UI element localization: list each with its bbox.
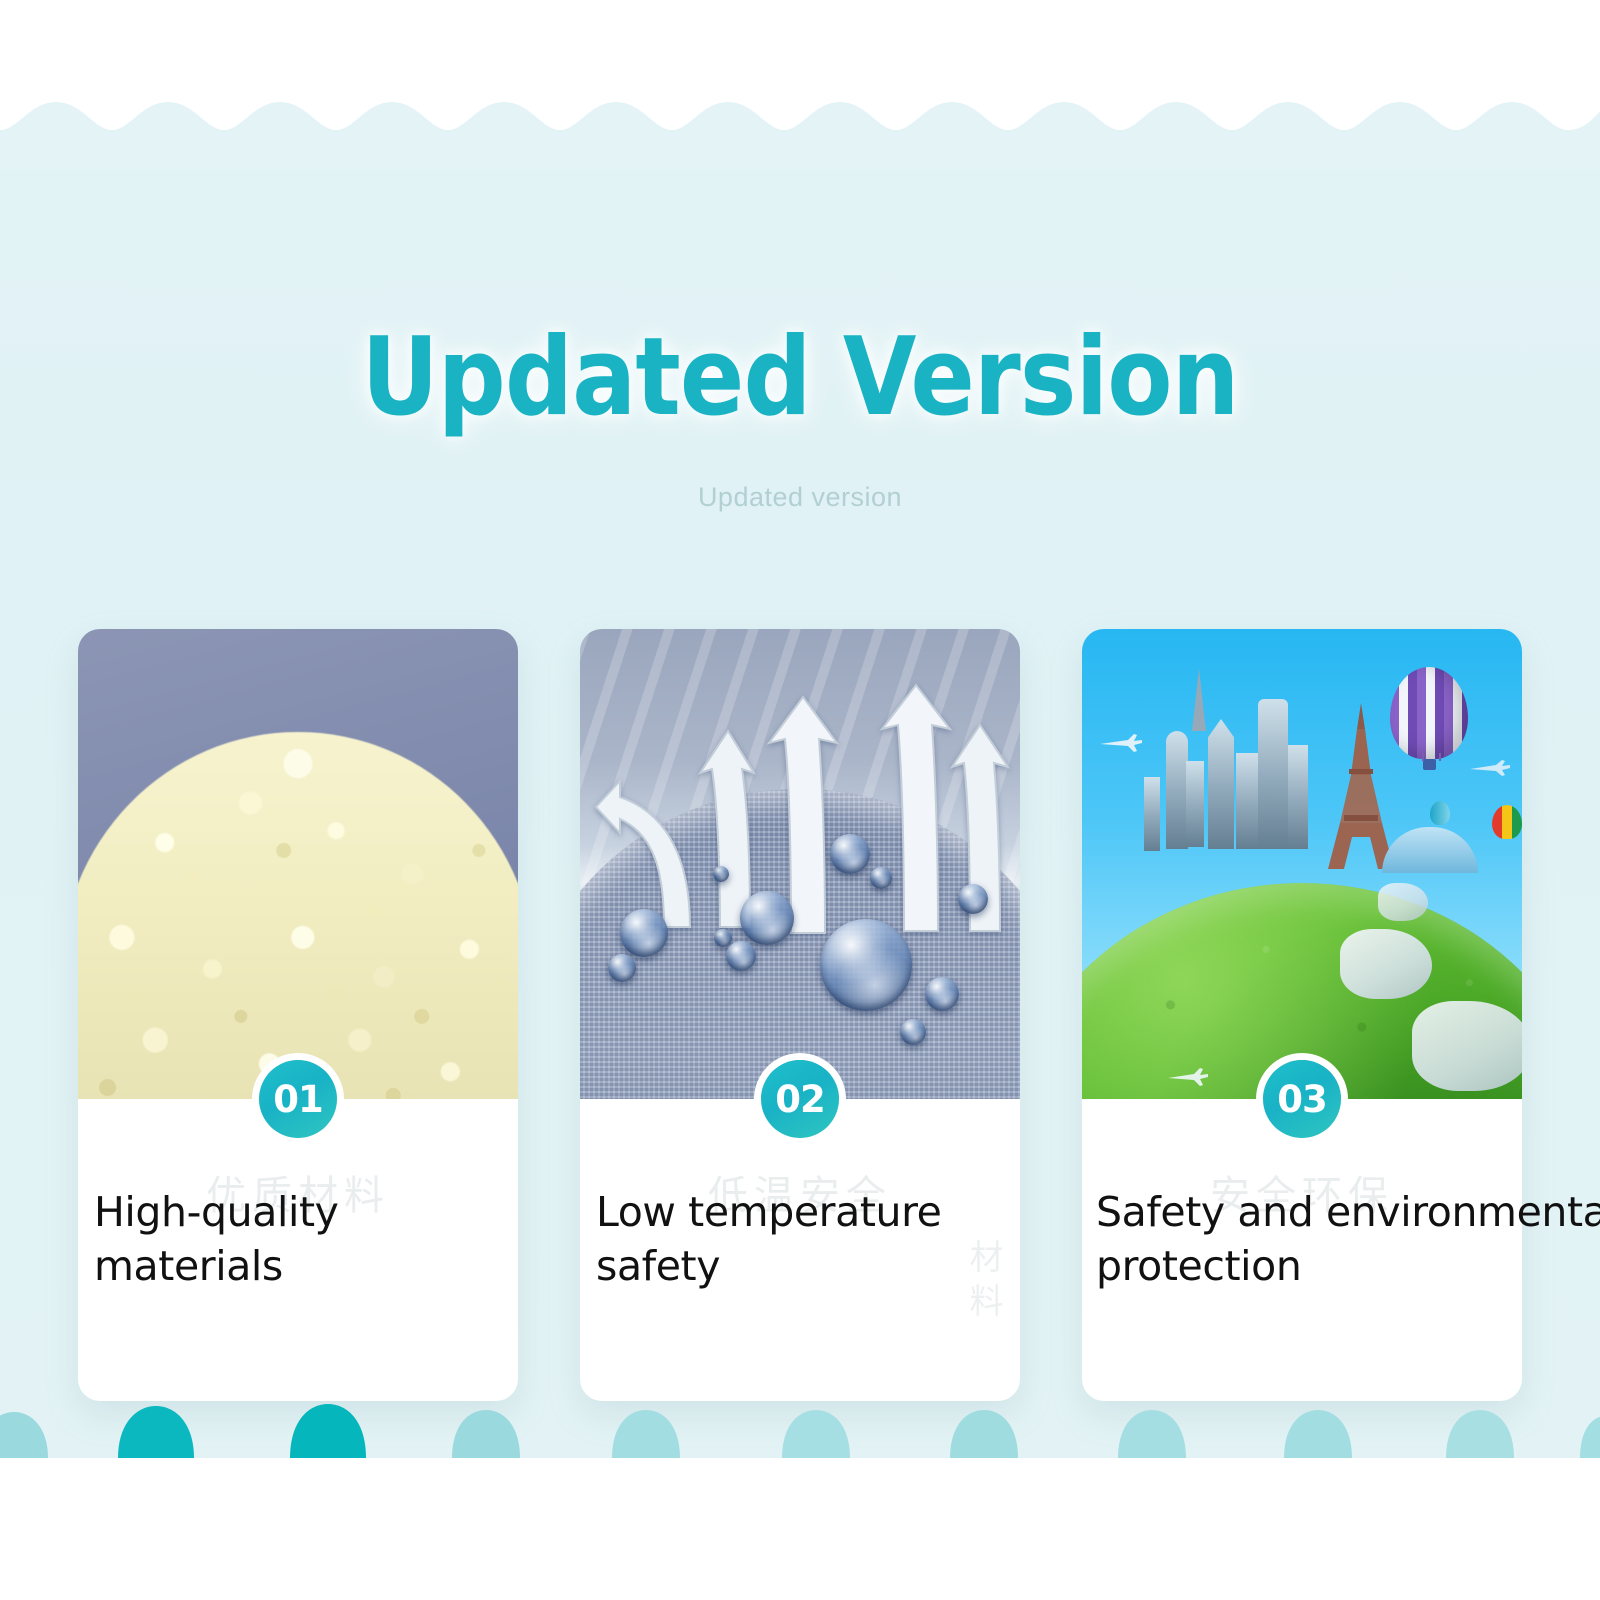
badge-number: 01 [273, 1081, 323, 1118]
airplane-icon [1468, 759, 1512, 777]
hot-air-balloon-icon [1430, 801, 1450, 825]
page-title: Updated Version [96, 324, 1504, 432]
hot-air-balloon-icon [1492, 805, 1522, 839]
promo-banner-page: Updated Version Updated version 01 优质材料 … [0, 0, 1600, 1600]
water-droplet [620, 909, 668, 957]
skyscraper [1208, 719, 1234, 849]
ice-patch [1378, 883, 1428, 921]
resin-pellets-photo [78, 629, 518, 1099]
card-number-badge-01: 01 [259, 1060, 337, 1138]
eiffel-tower-icon [1322, 703, 1400, 871]
feature-cards-row: 01 优质材料 High-quality materials [78, 629, 1522, 1401]
top-white-strip [0, 0, 1600, 100]
card-number-badge-03: 03 [1263, 1060, 1341, 1138]
water-droplet [958, 884, 988, 914]
water-droplet [726, 941, 756, 971]
water-droplet [608, 954, 636, 982]
green-earth-city-globe-photo [1082, 629, 1522, 1099]
card-title-line1: Safety and environmental [1096, 1188, 1600, 1236]
card-title: High-quality materials [78, 1185, 518, 1293]
skyscraper [1144, 777, 1160, 851]
card-body: 低温安全 材料 Low temperature safety [580, 1099, 1020, 1401]
hot-air-balloon-icon [1390, 667, 1468, 759]
card-body: 安全环保 Safety and environmentalprotection [1082, 1099, 1522, 1401]
breathable-fabric-droplets-illustration [580, 629, 1020, 1099]
skyscraper [1166, 731, 1188, 849]
skyscraper [1236, 753, 1258, 849]
airplane-icon [1098, 733, 1144, 753]
card-title-line2: protection [1096, 1239, 1512, 1293]
skyscraper [1186, 761, 1204, 847]
bottom-white-strip [0, 1458, 1600, 1600]
bottom-dome-border [0, 1394, 1600, 1458]
water-droplet [830, 834, 870, 874]
water-droplet [820, 919, 912, 1011]
airplane-icon [1166, 1067, 1210, 1087]
card-number-badge-02: 02 [761, 1060, 839, 1138]
feature-card-high-quality-materials[interactable]: 01 优质材料 High-quality materials [78, 629, 518, 1401]
water-droplet [900, 1019, 926, 1045]
card-title: Safety and environmentalprotection [1082, 1185, 1522, 1293]
ice-patch [1412, 1001, 1522, 1091]
page-subtitle: Updated version [0, 482, 1600, 513]
feature-card-low-temperature-safety[interactable]: 02 低温安全 材料 Low temperature safety [580, 629, 1020, 1401]
water-droplet [870, 867, 892, 889]
feature-card-safety-and-environmental-protection[interactable]: 03 安全环保 Safety and environmentalprotecti… [1082, 629, 1522, 1401]
balloon-ropes [1422, 753, 1441, 761]
water-droplet [925, 977, 959, 1011]
card-title: Low temperature safety [580, 1185, 1020, 1293]
water-droplet [713, 866, 729, 882]
ice-patch [1340, 929, 1432, 999]
water-droplet [714, 929, 732, 947]
skyscraper [1258, 699, 1288, 849]
skyscraper [1288, 745, 1308, 849]
card-body: 优质材料 High-quality materials [78, 1099, 518, 1401]
water-droplet [740, 891, 794, 945]
top-wave-border [0, 96, 1600, 170]
badge-number: 03 [1277, 1081, 1327, 1118]
spire-tower [1192, 669, 1206, 731]
tinted-panel: Updated Version Updated version 01 优质材料 … [0, 96, 1600, 1458]
badge-number: 02 [775, 1081, 825, 1118]
